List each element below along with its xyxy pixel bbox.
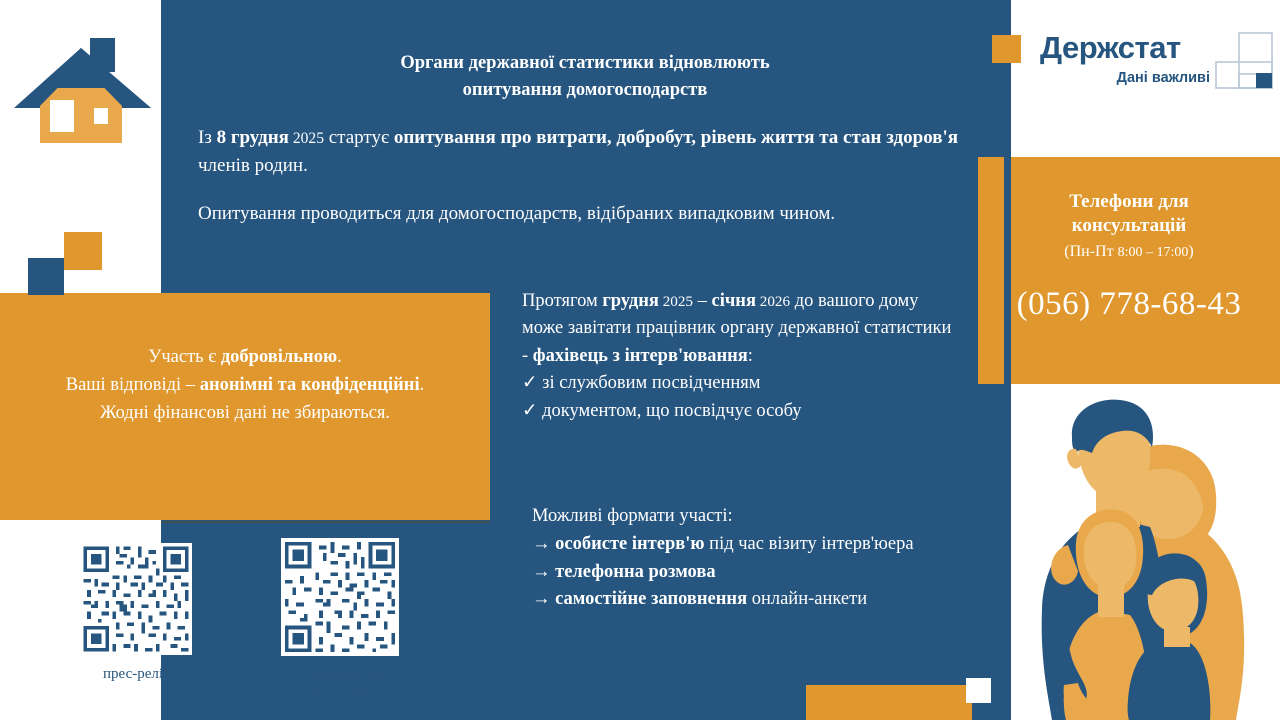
qr-press-release-caption: прес-реліз — [74, 665, 198, 684]
derzhstat-grid-mark-icon — [1215, 32, 1273, 95]
interviewer-credential-1-label: зі службовим посвідченням — [542, 373, 760, 393]
headline-line-1: Органи державної статистики відновлюють — [190, 50, 980, 77]
logo-tagline: Дані важливі — [1062, 70, 1210, 86]
voluntary-line-1: Участь є добровільною. — [10, 343, 480, 371]
interviewer-month-2: січня — [712, 291, 756, 311]
voluntary-text: Участь є добровільною. Ваші відповіді – … — [10, 343, 480, 427]
intro-p1-date: 8 грудня — [217, 127, 289, 148]
format-item-3-bold: самостійне заповнення — [555, 589, 747, 609]
decor-bar-orange-bottom — [806, 685, 972, 720]
format-item-3: → самостійне заповнення онлайн-анкети — [532, 586, 972, 614]
derzhstat-logo: Держстат Дані важливі — [1040, 30, 1270, 100]
format-item-2: → телефонна розмова — [532, 559, 972, 587]
phone-title-line-1: Телефони для — [988, 190, 1270, 214]
interviewer-role: фахівець з інтерв'ювання — [533, 346, 748, 366]
headline-line-2: опитування домогосподарств — [190, 77, 980, 104]
voluntary-line-2-a: Ваші відповіді – — [66, 375, 200, 395]
formats-text: Можливі формати участі: → особисте інтер… — [532, 503, 972, 614]
interviewer-lead: Протягом грудня 2025 – січня 2026 до ваш… — [522, 288, 962, 370]
qr-survey-caption-line-1: детальніше про — [272, 666, 408, 685]
intro-p1-subject: опитування про витрати, добробут, рівень… — [394, 127, 958, 148]
check-mark-icon: ✓ — [522, 401, 538, 421]
intro-paragraph-1: Із 8 грудня 2025 стартує опитування про … — [198, 124, 988, 180]
family-of-four-illustration — [1018, 395, 1258, 720]
right-arrow-icon: → — [532, 589, 551, 609]
decor-square-orange-top — [992, 35, 1021, 63]
voluntary-line-3: Жодні фінансові дані не збираються. — [10, 399, 480, 427]
voluntary-line-1-c: . — [337, 347, 342, 367]
format-item-3-rest: онлайн-анкети — [747, 589, 867, 609]
interviewer-credential-2-label: документом, що посвідчує особу — [542, 401, 801, 421]
logo-wordmark: Держстат — [1040, 30, 1181, 66]
phone-hours-value: 8:00 – 17:00 — [1118, 245, 1189, 260]
format-item-1-rest: під час візиту інтерв'юера — [705, 534, 914, 554]
phone-number[interactable]: (056) 778-68-43 — [988, 286, 1270, 323]
interviewer-text: Протягом грудня 2025 – січня 2026 до ваш… — [522, 288, 962, 425]
voluntary-line-1-bold: добровільною — [221, 347, 337, 367]
format-item-2-bold: телефонна розмова — [555, 562, 715, 582]
intro-p1-d: стартує — [324, 127, 394, 148]
interviewer-dash: – — [693, 291, 712, 311]
voluntary-line-2-c: . — [420, 375, 425, 395]
intro-paragraph-2: Опитування проводиться для домогосподарс… — [198, 200, 988, 228]
intro-p1-year: 2025 — [293, 130, 324, 147]
phone-block-title: Телефони для консультацій — [988, 190, 1270, 239]
interviewer-year-1: 2025 — [663, 293, 693, 310]
intro-text: Із 8 грудня 2025 стартує опитування про … — [198, 124, 988, 228]
decor-square-white-bottom — [966, 678, 991, 703]
right-blue-strip — [1004, 0, 1011, 720]
decor-square-orange-left — [64, 232, 102, 270]
phone-hours: (Пн-Пт 8:00 – 17:00) — [988, 243, 1270, 261]
phone-hours-suffix: ) — [1188, 243, 1193, 260]
qr-survey-details-caption: детальніше про опитування — [272, 666, 408, 704]
interviewer-credential-2: ✓ документом, що посвідчує особу — [522, 398, 962, 425]
interviewer-credential-1: ✓ зі службовим посвідченням — [522, 370, 962, 397]
phone-hours-days: (Пн-Пт — [1064, 243, 1113, 260]
infographic-poster: Держстат Дані важливі Органи державної с… — [0, 0, 1280, 720]
qr-survey-details[interactable]: детальніше про опитування — [278, 538, 408, 704]
qr-survey-caption-line-2: опитування — [272, 685, 408, 704]
qr-code-icon[interactable] — [278, 538, 402, 656]
qr-press-release[interactable]: прес-реліз — [74, 543, 198, 684]
divider-rule — [161, 521, 490, 523]
interviewer-month-1: грудня — [602, 291, 659, 311]
intro-p1-f: членів родин. — [198, 155, 308, 176]
format-item-1-bold: особисте інтерв'ю — [555, 534, 704, 554]
check-mark-icon: ✓ — [522, 373, 538, 393]
formats-title: Можливі формати участі: — [532, 503, 972, 531]
voluntary-line-2: Ваші відповіді – анонімні та конфіденцій… — [10, 371, 480, 399]
interviewer-lead-a: Протягом — [522, 291, 602, 311]
intro-p1-a: Із — [198, 127, 217, 148]
house-icon — [12, 30, 152, 160]
voluntary-line-1-a: Участь є — [148, 347, 221, 367]
interviewer-colon: : — [748, 346, 753, 366]
format-item-1: → особисте інтерв'ю під час візиту інтер… — [532, 531, 972, 559]
right-arrow-icon: → — [532, 534, 551, 554]
right-arrow-icon: → — [532, 562, 551, 582]
qr-code-icon[interactable] — [74, 543, 198, 655]
page-title: Органи державної статистики відновлюють … — [190, 50, 980, 104]
phone-title-line-2: консультацій — [988, 214, 1270, 238]
interviewer-year-2: 2026 — [760, 293, 790, 310]
decor-square-blue-left — [28, 258, 64, 295]
voluntary-line-2-bold: анонімні та конфіденційні — [200, 375, 420, 395]
